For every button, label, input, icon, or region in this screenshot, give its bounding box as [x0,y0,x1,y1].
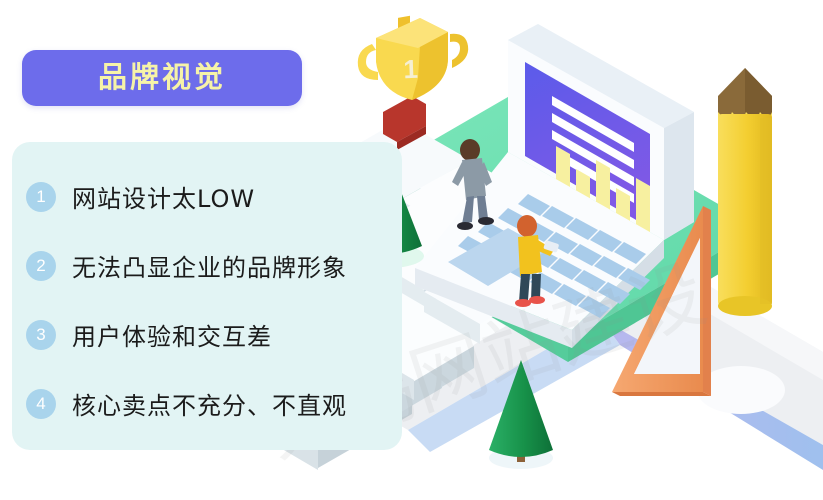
bullet-number-badge: 3 [26,320,56,350]
bullet-label: 用户体验和交互差 [72,317,272,352]
list-item: 2 无法凸显企业的品牌形象 [12,239,442,293]
pencil [718,68,772,316]
page-title: 品牌视觉 [98,64,226,93]
svg-text:1: 1 [403,54,419,84]
bullet-label: 无法凸显企业的品牌形象 [72,248,347,283]
bullet-label: 核心卖点不充分、不直观 [72,386,347,421]
title-badge: 品牌视觉 [22,50,302,106]
list-item: 1 网站设计太LOW [12,170,442,224]
bullet-list: 1 网站设计太LOW 2 无法凸显企业的品牌形象 3 用户体验和交互差 4 核心… [12,150,442,450]
list-item: 4 核心卖点不充分、不直观 [12,377,442,431]
bullet-label: 网站设计太LOW [72,179,255,214]
bullet-number-badge: 2 [26,251,56,281]
bullet-number-badge: 1 [26,182,56,212]
list-item: 3 用户体验和交互差 [12,308,442,362]
poster-canvas: 1 [0,0,823,500]
bullet-number-badge: 4 [26,389,56,419]
